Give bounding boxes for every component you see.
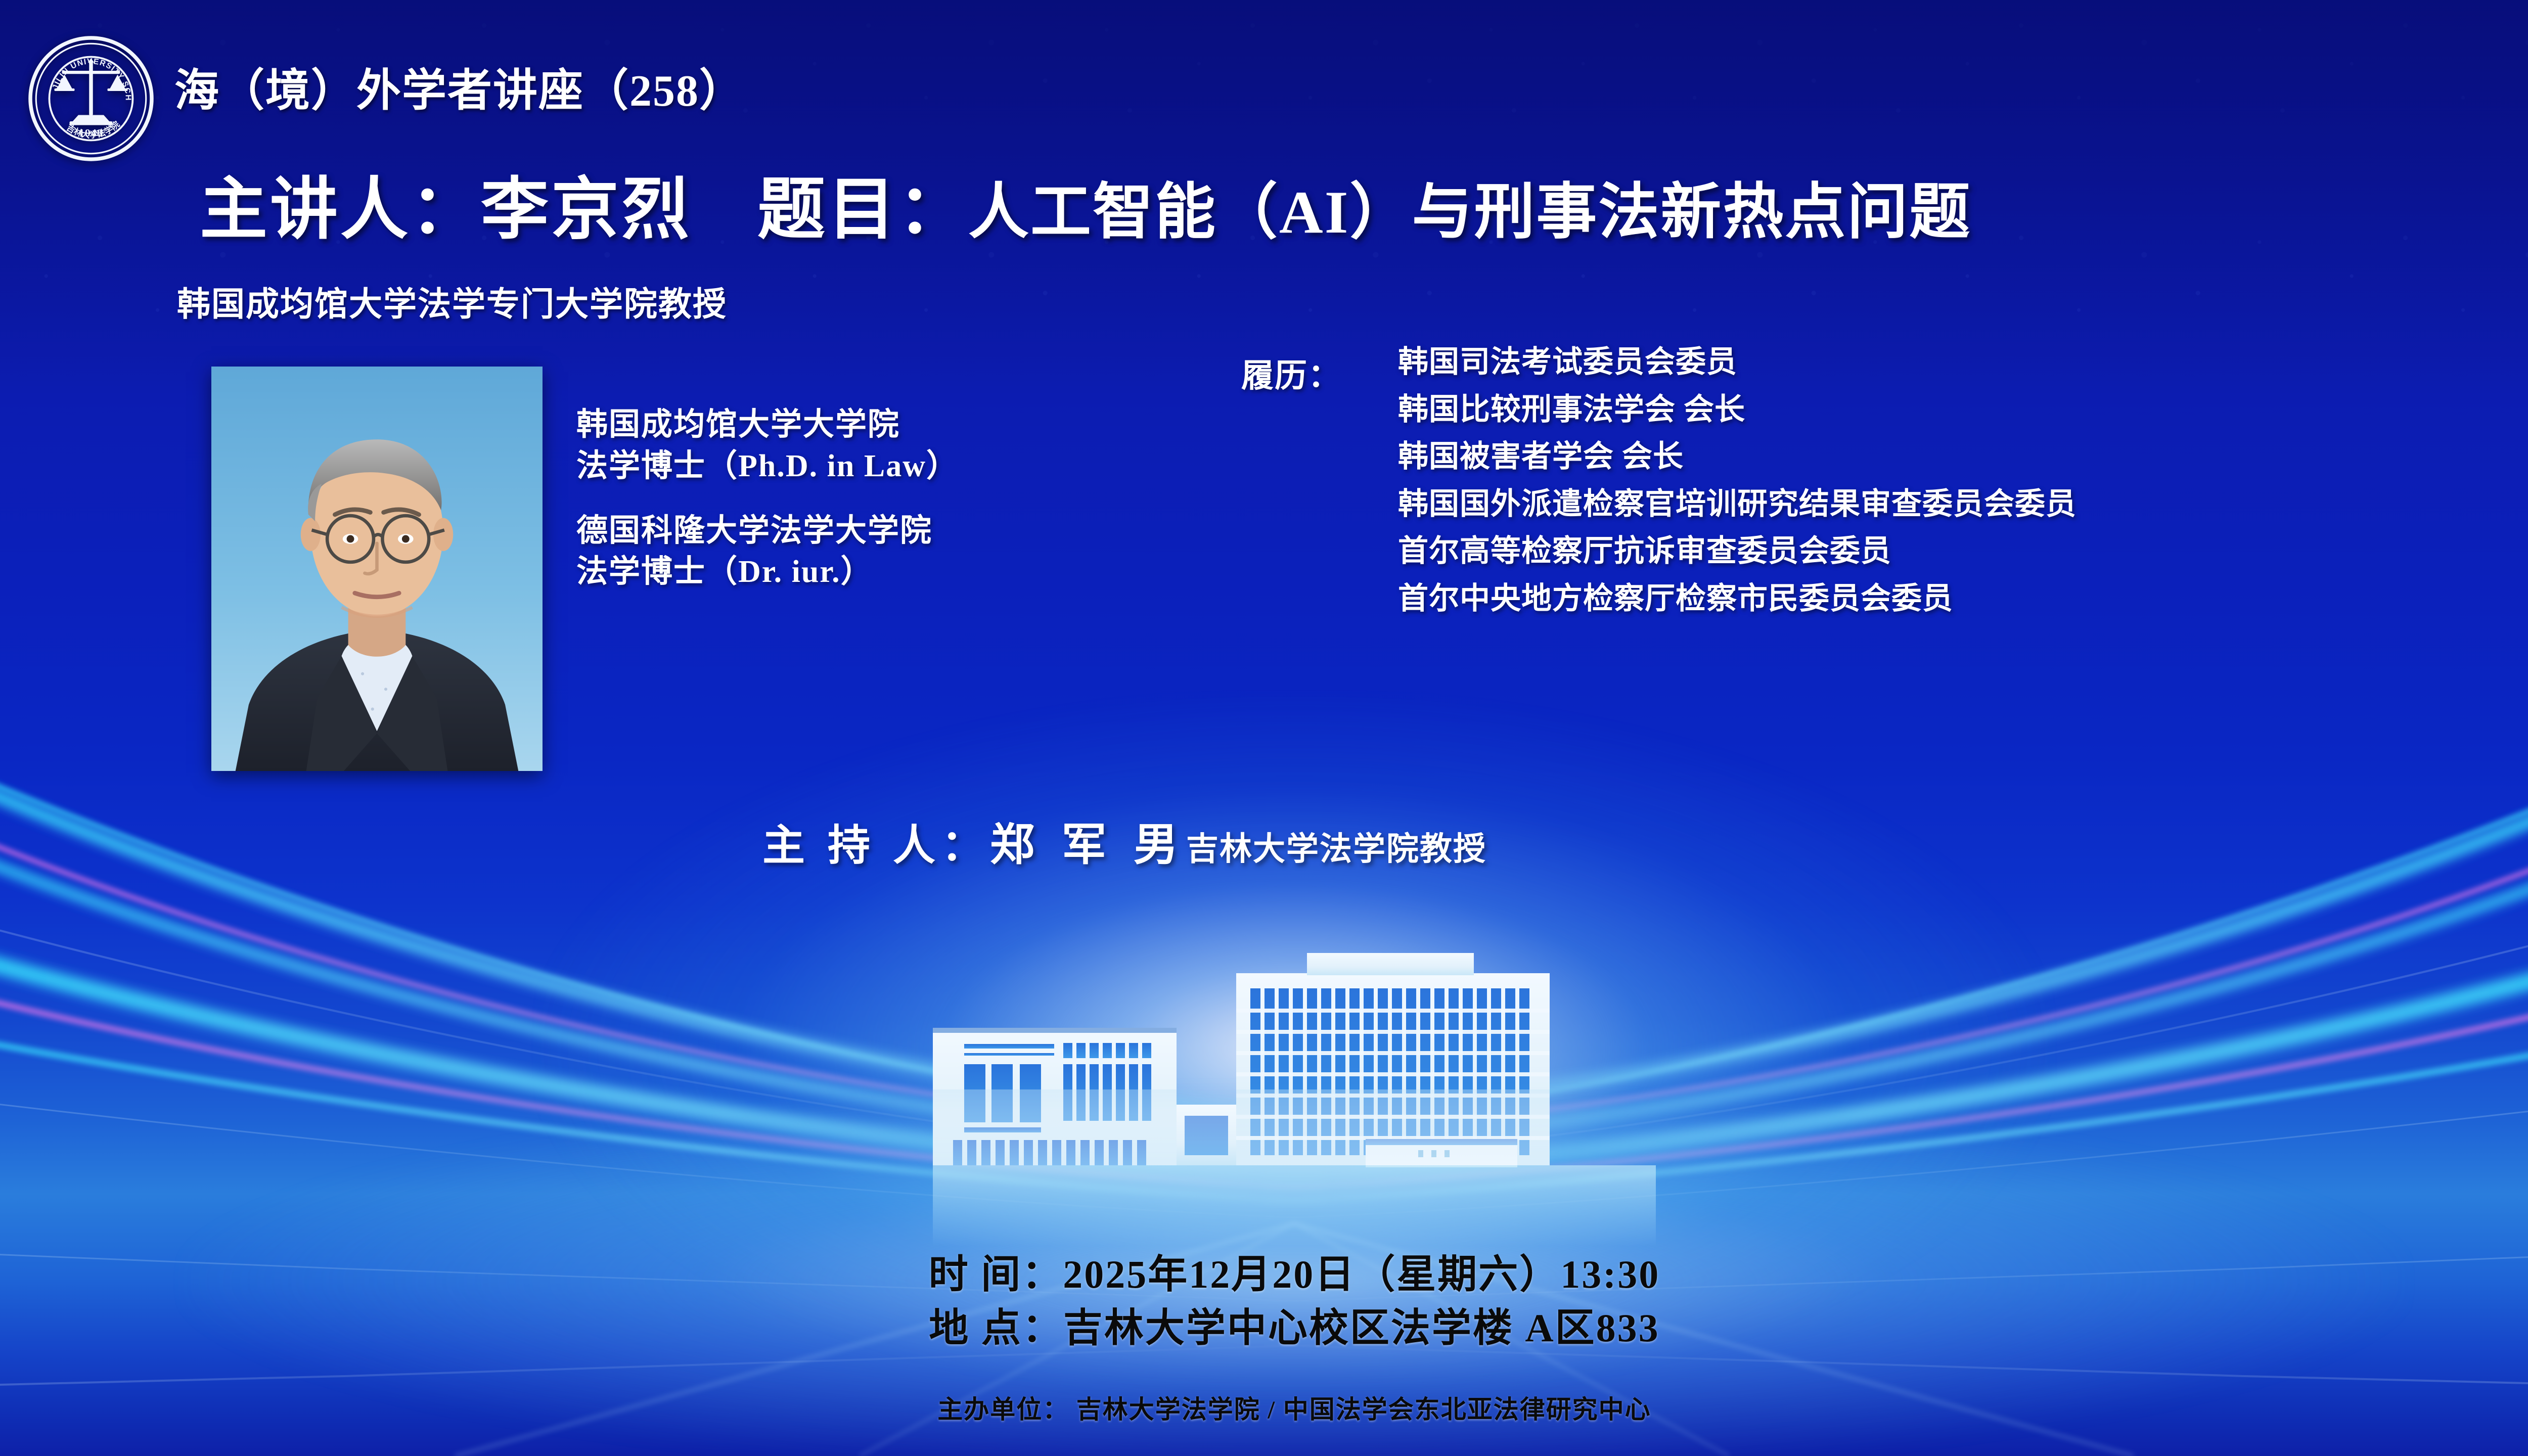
host-label: 主 持 人： bbox=[762, 823, 990, 870]
degree-gap bbox=[576, 487, 959, 511]
cv-list: 韩国司法考试委员会委员 韩国比较刑事法学会 会长 韩国被害者学会 会长 韩国国外… bbox=[1398, 339, 2076, 623]
event-time-label: 时 间： bbox=[929, 1252, 1063, 1296]
cv-item: 首尔中央地方检察厅检察市民委员会委员 bbox=[1398, 575, 2076, 623]
cv-label: 履历： bbox=[1241, 350, 1341, 396]
speaker-portrait-photo bbox=[211, 367, 543, 771]
event-place-label: 地 点： bbox=[929, 1306, 1063, 1350]
cv-item: 韩国被害者学会 会长 bbox=[1398, 433, 2076, 481]
headline-row: 主讲人：李京烈题目：人工智能（AI）与刑事法新热点问题 bbox=[200, 154, 1971, 252]
degree-line: 法学博士（Dr. iur.） bbox=[576, 552, 959, 593]
host-name: 郑 军 男 bbox=[990, 821, 1186, 870]
law-school-building-illustration bbox=[933, 938, 1656, 1246]
speaker-cv-block: 履历： 韩国司法考试委员会委员 韩国比较刑事法学会 会长 韩国被害者学会 会长 … bbox=[1241, 339, 2076, 623]
speaker-affiliation: 韩国成均馆大学法学专门大学院教授 bbox=[177, 277, 727, 326]
event-place-value: 吉林大学中心校区法学楼 A区833 bbox=[1063, 1306, 1660, 1350]
event-time-value: 2025年12月20日（星期六）13:30 bbox=[1063, 1252, 1660, 1296]
topic-label: 题目： bbox=[757, 172, 968, 247]
host-title: 吉林大学法学院教授 bbox=[1186, 831, 1486, 867]
event-place-line: 地 点：吉林大学中心校区法学楼 A区833 bbox=[0, 1301, 2528, 1355]
cv-item: 首尔高等检察厅抗诉审查委员会委员 bbox=[1398, 528, 2076, 575]
cv-item: 韩国国外派遣检察官培训研究结果审查委员会委员 bbox=[1398, 481, 2076, 528]
host-row: 主 持 人：郑 军 男吉林大学法学院教授 bbox=[762, 809, 1486, 873]
lecture-series-label: 海（境）外学者讲座（258） bbox=[174, 55, 745, 119]
speaker-name: 李京烈 bbox=[481, 172, 692, 247]
event-info: 时 间：2025年12月20日（星期六）13:30 地 点：吉林大学中心校区法学… bbox=[0, 1248, 2528, 1355]
degree-line: 德国科隆大学法学大学院 bbox=[576, 511, 959, 552]
speaker-label: 主讲人： bbox=[200, 172, 481, 247]
organizer-line: 主办单位： 吉林大学法学院 / 中国法学会东北亚法律研究中心 bbox=[0, 1389, 2528, 1426]
lecture-poster: JILIN UNIVERSITY SCHOOL OF LAW 1948 吉林大学… bbox=[0, 0, 2528, 1456]
speaker-degrees: 韩国成均馆大学大学院 法学博士（Ph.D. in Law） 德国科隆大学法学大学… bbox=[576, 404, 959, 593]
jilin-university-law-school-logo-icon: JILIN UNIVERSITY SCHOOL OF LAW 1948 吉林大学… bbox=[28, 35, 154, 162]
cv-item: 韩国司法考试委员会委员 bbox=[1398, 339, 2076, 386]
topic-title: 人工智能（AI）与刑事法新热点问题 bbox=[968, 178, 1971, 246]
cv-item: 韩国比较刑事法学会 会长 bbox=[1398, 386, 2076, 434]
event-time-line: 时 间：2025年12月20日（星期六）13:30 bbox=[0, 1248, 2528, 1301]
degree-line: 韩国成均馆大学大学院 bbox=[576, 404, 959, 446]
degree-line: 法学博士（Ph.D. in Law） bbox=[576, 446, 959, 487]
